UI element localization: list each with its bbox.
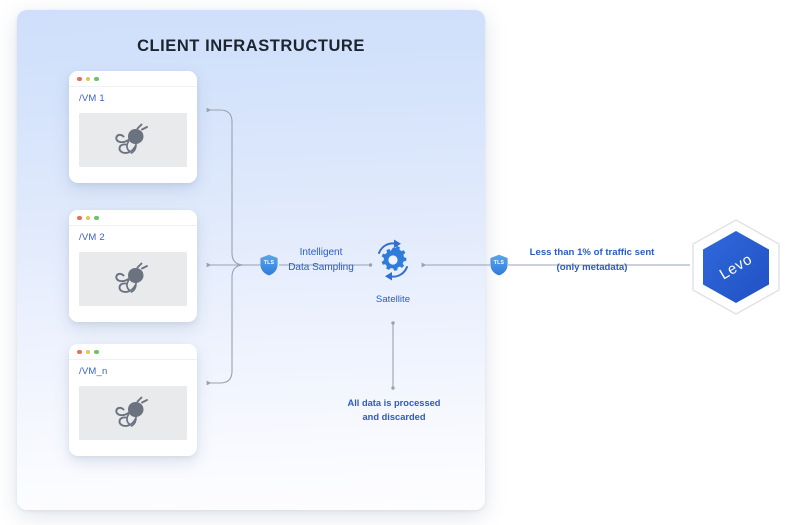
discard-label-line2: and discarded xyxy=(324,410,464,424)
window-titlebar xyxy=(69,344,197,360)
satellite-node[interactable] xyxy=(369,238,417,282)
tls-badge-right: TLS xyxy=(489,254,509,276)
tls-label: TLS xyxy=(259,260,279,266)
satellite-caption: Satellite xyxy=(355,294,431,305)
traffic-label-line1: Less than 1% of traffic sent xyxy=(512,245,672,260)
window-titlebar xyxy=(69,71,197,87)
diagram-canvas: CLIENT INFRASTRUCTURE /VM 1 xyxy=(0,0,800,525)
bee-icon xyxy=(112,395,154,431)
bee-body xyxy=(128,268,144,283)
levo-logo[interactable]: Levo xyxy=(686,218,786,316)
vm-card-label: /VM 1 xyxy=(79,93,105,104)
discard-label: All data is processed and discarded xyxy=(324,396,464,424)
vm-screen-area xyxy=(79,252,187,306)
bee-icon xyxy=(112,261,154,297)
arrow-head-bottom xyxy=(385,272,392,281)
vm-screen-area xyxy=(79,386,187,440)
traffic-label: Less than 1% of traffic sent (only metad… xyxy=(512,245,672,275)
red-dot-icon xyxy=(77,216,82,221)
tls-label: TLS xyxy=(489,260,509,266)
green-dot-icon xyxy=(94,216,99,221)
panel-title: CLIENT INFRASTRUCTURE xyxy=(17,37,485,56)
bee-icon xyxy=(112,122,154,158)
vm-card-3[interactable]: /VM_n xyxy=(69,344,197,456)
vm-card-label: /VM_n xyxy=(79,366,107,377)
gear-hole xyxy=(388,255,397,264)
yellow-dot-icon xyxy=(86,350,91,355)
red-dot-icon xyxy=(77,77,82,82)
vm-card-2[interactable]: /VM 2 xyxy=(69,210,197,322)
green-dot-icon xyxy=(94,77,99,82)
red-dot-icon xyxy=(77,350,82,355)
vm-screen-area xyxy=(79,113,187,167)
traffic-label-line2: (only metadata) xyxy=(512,260,672,275)
satellite-gear-icon xyxy=(369,238,417,282)
sampling-label-line2: Data Sampling xyxy=(283,261,359,276)
yellow-dot-icon xyxy=(86,216,91,221)
tls-badge-left: TLS xyxy=(259,254,279,276)
window-titlebar xyxy=(69,210,197,226)
sampling-label: Intelligent Data Sampling xyxy=(283,246,359,275)
green-dot-icon xyxy=(94,350,99,355)
sampling-label-line1: Intelligent xyxy=(283,246,359,261)
vm-card-1[interactable]: /VM 1 xyxy=(69,71,197,183)
bee-body xyxy=(128,129,144,144)
yellow-dot-icon xyxy=(86,77,91,82)
bee-body xyxy=(128,402,144,417)
vm-card-label: /VM 2 xyxy=(79,232,105,243)
discard-label-line1: All data is processed xyxy=(324,396,464,410)
